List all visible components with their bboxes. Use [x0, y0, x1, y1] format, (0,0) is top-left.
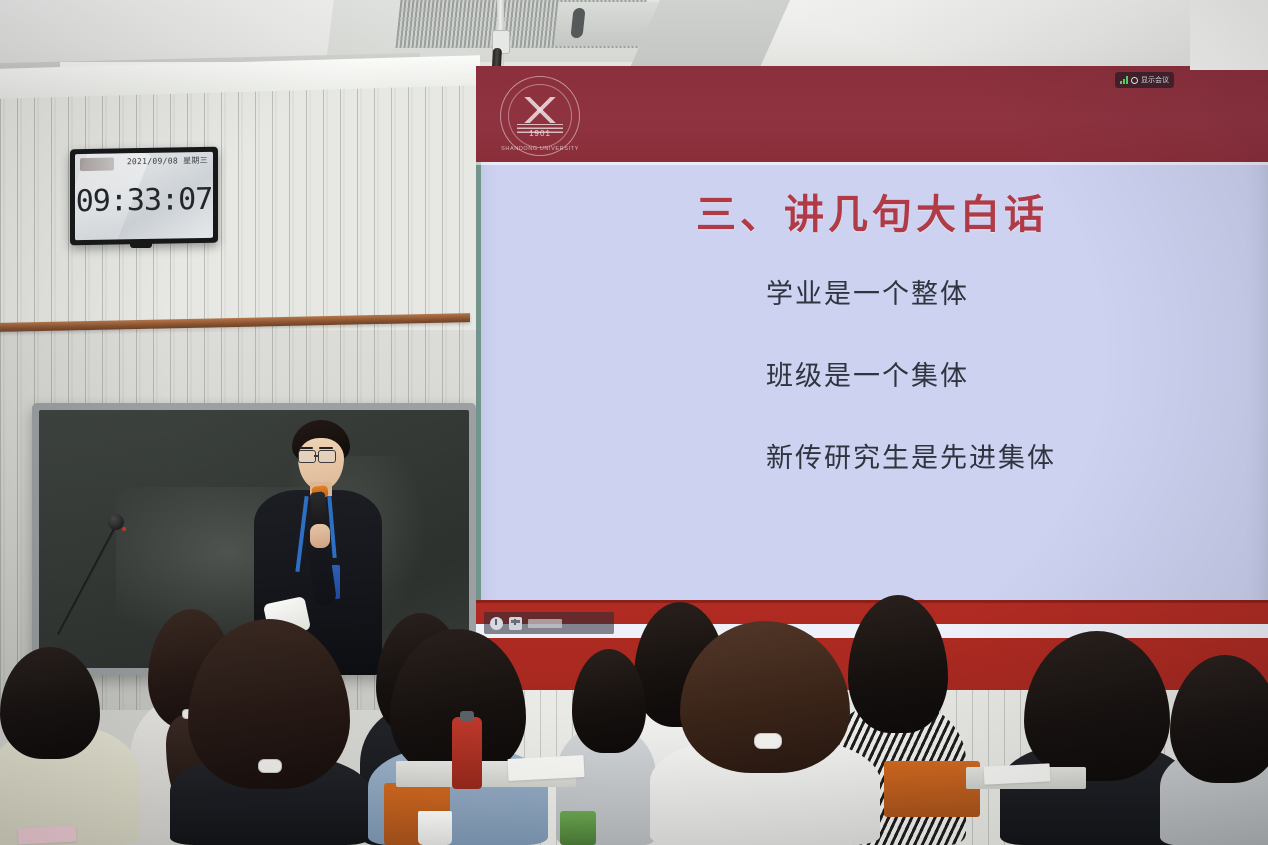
paper-cup	[418, 811, 452, 845]
audience-torso	[0, 725, 140, 845]
audience-torso	[170, 753, 370, 845]
slide-title: 三、讲几句大白话	[476, 182, 1268, 240]
wall-clock-display: 2021/09/08 星期三 09:33:07	[70, 147, 218, 246]
slide-bullet-2: 班级是一个集体	[766, 354, 1236, 393]
slide-bullet-1: 学业是一个整体	[766, 272, 1236, 311]
slide-bullet-3: 新传研究生是先进集体	[766, 436, 1236, 475]
glasses-bridge	[314, 455, 319, 457]
clock-screen: 2021/09/08 星期三 09:33:07	[75, 152, 213, 240]
audience-torso	[360, 705, 480, 845]
meeting-status-label: 显示会议	[1141, 75, 1169, 85]
microphone-led-indicator	[122, 527, 126, 531]
chair-back	[384, 783, 450, 845]
presenter-brow-left	[299, 447, 313, 449]
audience-torso	[130, 695, 250, 845]
record-dot-icon	[1131, 77, 1138, 84]
mountain-emblem-icon	[516, 97, 564, 123]
clock-date: 2021/09/08 星期三	[127, 155, 208, 167]
clock-brand-logo-icon	[80, 158, 114, 172]
glasses-right-lens	[318, 450, 336, 463]
university-logo: 1901 SHANDONG UNIVERSITY	[500, 76, 580, 156]
slide-footer-band	[476, 600, 1268, 690]
signal-bars-icon	[1120, 76, 1128, 84]
presenter	[248, 420, 388, 675]
hair-tie	[182, 709, 198, 719]
logo-year: 1901	[501, 129, 579, 138]
toolbar-progress-bar[interactable]	[528, 619, 562, 628]
slide-footer-top-edge	[476, 600, 1268, 603]
presenter-hand	[310, 524, 330, 548]
hair-tie	[258, 759, 282, 773]
ponytail	[166, 715, 212, 811]
slide-header-divider	[476, 162, 1268, 165]
clock-time: 09:33:07	[75, 182, 213, 219]
far-wall-top	[1190, 0, 1268, 70]
meeting-status-badge[interactable]: 显示会议	[1115, 72, 1174, 88]
lecture-hall-scene: 2021/09/08 星期三 09:33:07 1901 SHANDONG UN…	[0, 0, 1268, 845]
logo-name: SHANDONG UNIVERSITY	[501, 146, 579, 152]
power-icon[interactable]	[490, 617, 503, 630]
presenter-brow-right	[319, 447, 333, 449]
display-icon[interactable]	[509, 617, 522, 630]
projector-toolbar[interactable]	[484, 612, 614, 634]
projection-screen: 1901 SHANDONG UNIVERSITY 显示会议 三、讲几句大白话 学…	[476, 66, 1268, 690]
slide-body: 学业是一个整体 班级是一个集体 新传研究生是先进集体	[766, 272, 1236, 518]
bottle-cap	[460, 711, 474, 721]
handout-paper	[18, 825, 77, 844]
lower-wall-panel	[476, 690, 1268, 845]
clock-mount	[130, 243, 152, 248]
